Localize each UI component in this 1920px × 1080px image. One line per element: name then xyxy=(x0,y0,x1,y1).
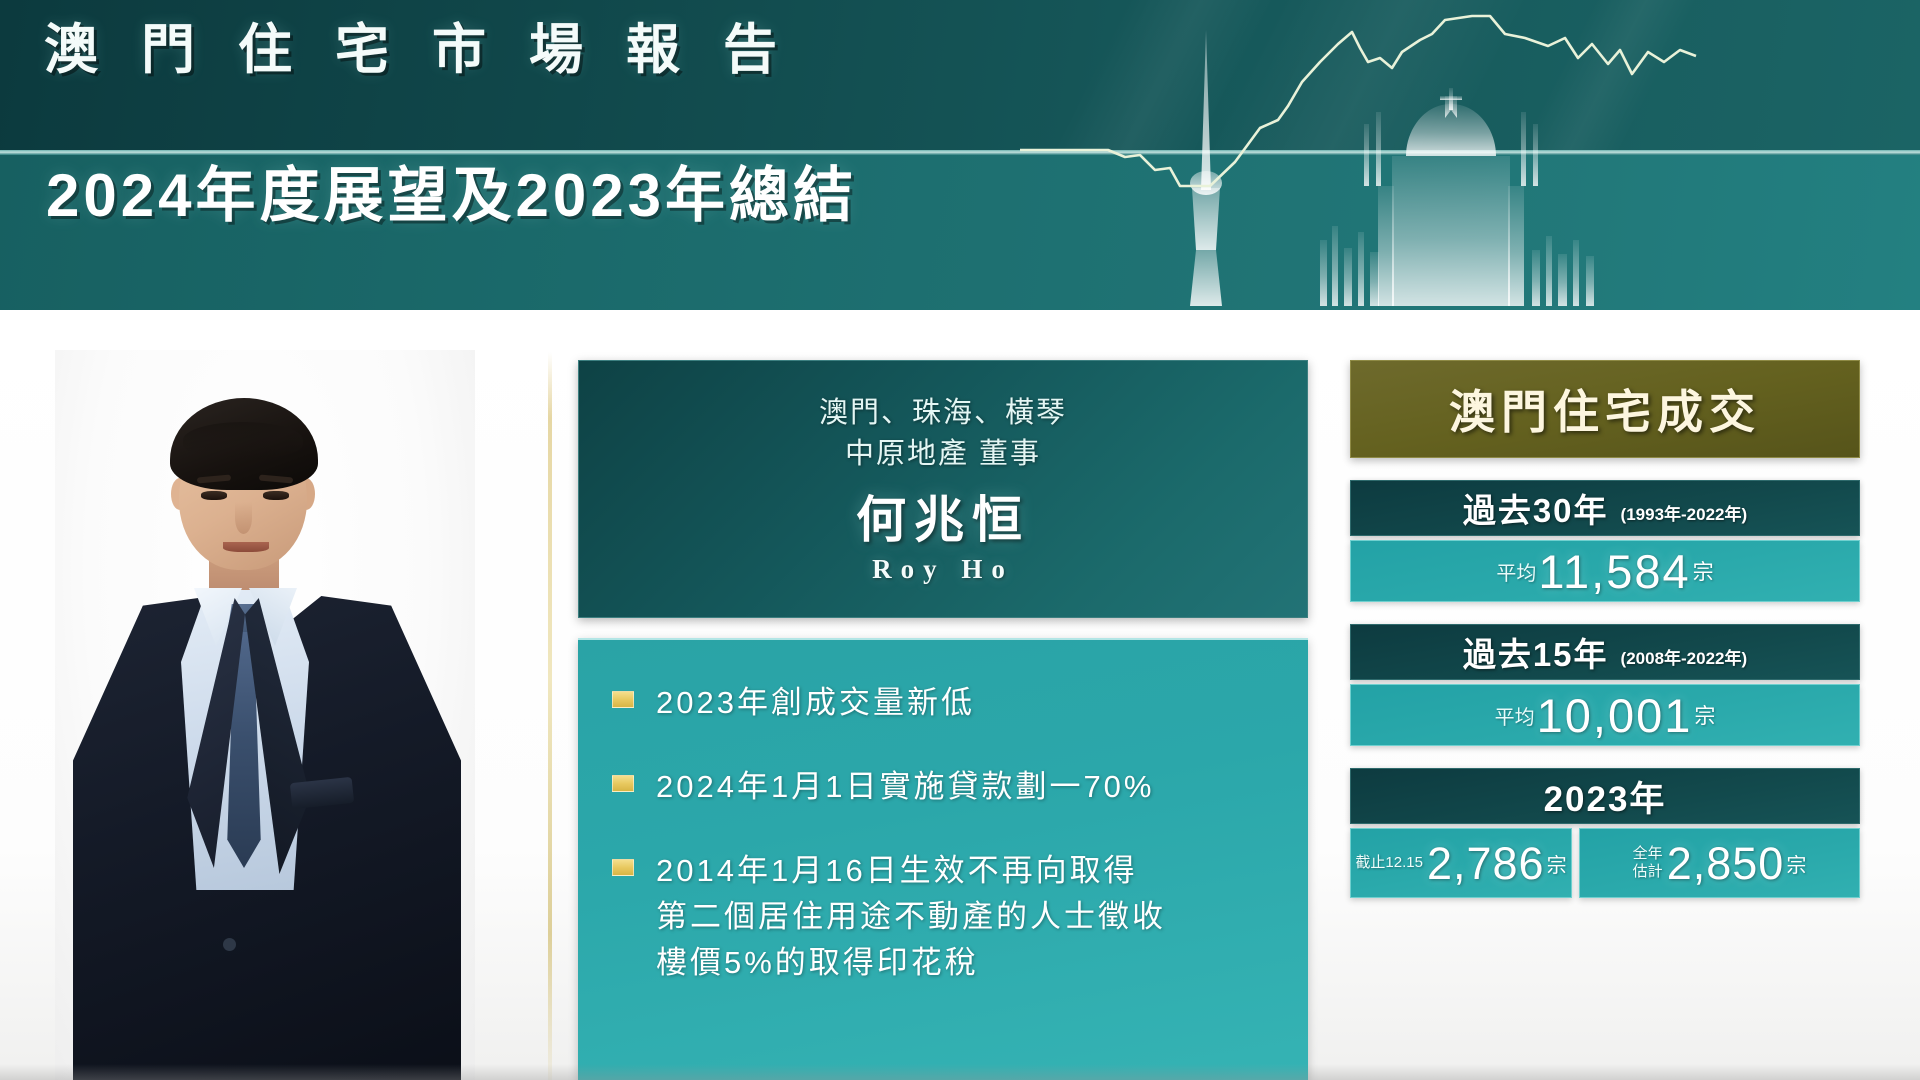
stat-value-unit: 宗 xyxy=(1694,700,1715,730)
page-subtitle: 2024年度展望及2023年總結 xyxy=(46,158,857,233)
portrait-nose xyxy=(235,502,252,534)
macau-skyline-icon xyxy=(1320,88,1594,306)
stat-period-range: (1993年-2022年) xyxy=(1621,492,1748,525)
centre-column: 澳門、珠海、橫琴 中原地產 董事 何兆恒 Roy Ho 2023年創成交量新低 … xyxy=(578,360,1308,1080)
stat-block-2023: 2023年 截止12.15 2,786 宗 全年 估計 2,850 宗 xyxy=(1350,768,1860,898)
list-item: 2023年創成交量新低 xyxy=(612,680,1278,726)
list-item-label: 2024年1月1日實施貸款劃一70% xyxy=(656,764,1155,810)
stat-forecast-number: 2,850 xyxy=(1667,841,1785,886)
speaker-name-cn: 何兆恒 xyxy=(856,491,1030,550)
stat-label-bar: 2023年 xyxy=(1350,768,1860,824)
stat-block-15y: 過去15年 (2008年-2022年) 平均 10,001 宗 xyxy=(1350,624,1860,746)
square-bullet-icon xyxy=(612,859,634,876)
stat-period-label: 過去15年 xyxy=(1463,628,1609,676)
portrait-hair-fringe xyxy=(183,422,303,458)
stat-value-prefix: 平均 xyxy=(1495,701,1535,730)
speaker-org-line: 澳門、珠海、橫琴 xyxy=(819,393,1067,434)
stat-value-bar: 平均 10,001 宗 xyxy=(1350,684,1860,746)
square-bullet-icon xyxy=(612,691,634,708)
stage-bottom-shadow xyxy=(0,1064,1920,1080)
stat-value-bar: 平均 11,584 宗 xyxy=(1350,540,1860,602)
stat-forecast-cell: 全年 估計 2,850 宗 xyxy=(1579,828,1860,898)
stat-label-bar: 過去30年 (1993年-2022年) xyxy=(1350,480,1860,536)
stat-year-label: 2023年 xyxy=(1544,771,1667,822)
portrait-eye-right xyxy=(263,491,289,500)
stat-value-prefix: 平均 xyxy=(1496,557,1536,586)
stat-period-label: 過去30年 xyxy=(1463,484,1609,532)
stat-label-bar: 過去15年 (2008年-2022年) xyxy=(1350,624,1860,680)
gold-vertical-divider xyxy=(548,352,552,1080)
stat-ytd-caption: 截止12.15 xyxy=(1355,854,1423,872)
stat-period-range: (2008年-2022年) xyxy=(1621,636,1748,669)
stat-ytd-cell: 截止12.15 2,786 宗 xyxy=(1350,828,1572,898)
speaker-portrait xyxy=(55,350,475,1080)
stat-forecast-caption: 全年 估計 xyxy=(1633,845,1663,880)
speaker-name-card: 澳門、珠海、橫琴 中原地產 董事 何兆恒 Roy Ho xyxy=(578,360,1308,618)
speaker-name-en: Roy Ho xyxy=(872,554,1014,585)
stats-panel-header: 澳門住宅成交 xyxy=(1350,360,1860,458)
square-bullet-icon xyxy=(612,775,634,792)
market-line-chart xyxy=(1020,16,1696,186)
key-points-panel: 2023年創成交量新低 2024年1月1日實施貸款劃一70% 2014年1月16… xyxy=(578,638,1308,1080)
page-title: 澳 門 住 宅 市 場 報 告 xyxy=(44,18,791,83)
header-decoration-graphic xyxy=(1020,0,1920,310)
list-item: 2024年1月1日實施貸款劃一70% xyxy=(612,764,1278,810)
list-item-label: 2023年創成交量新低 xyxy=(656,680,975,726)
list-item-label: 2014年1月16日生效不再向取得 第二個居住用途不動產的人士徵收 樓價5%的取… xyxy=(656,848,1166,986)
portrait-mouth xyxy=(223,542,269,552)
slide-body: 澳門、珠海、橫琴 中原地產 董事 何兆恒 Roy Ho 2023年創成交量新低 … xyxy=(0,310,1920,1080)
stat-ytd-unit: 宗 xyxy=(1547,849,1567,878)
header-band: 澳 門 住 宅 市 場 報 告 2024年度展望及2023年總結 xyxy=(0,0,1920,310)
transactions-stats-panel: 澳門住宅成交 過去30年 (1993年-2022年) 平均 11,584 宗 過… xyxy=(1350,360,1860,898)
portrait-suit-button xyxy=(223,938,236,951)
stat-block-30y: 過去30年 (1993年-2022年) 平均 11,584 宗 xyxy=(1350,480,1860,602)
stat-forecast-unit: 宗 xyxy=(1786,849,1806,878)
stat-year-cells: 截止12.15 2,786 宗 全年 估計 2,850 宗 xyxy=(1350,828,1860,898)
portrait-eye-left xyxy=(201,491,227,500)
list-item: 2014年1月16日生效不再向取得 第二個居住用途不動產的人士徵收 樓價5%的取… xyxy=(612,848,1278,986)
stat-value-unit: 宗 xyxy=(1693,556,1714,586)
stats-panel-title: 澳門住宅成交 xyxy=(1449,376,1761,442)
stat-value-number: 10,001 xyxy=(1537,692,1693,739)
speaker-title-line: 中原地產 董事 xyxy=(845,434,1041,475)
stat-value-number: 11,584 xyxy=(1538,548,1690,595)
stat-ytd-number: 2,786 xyxy=(1427,841,1545,886)
macau-tower-icon xyxy=(1190,30,1222,306)
